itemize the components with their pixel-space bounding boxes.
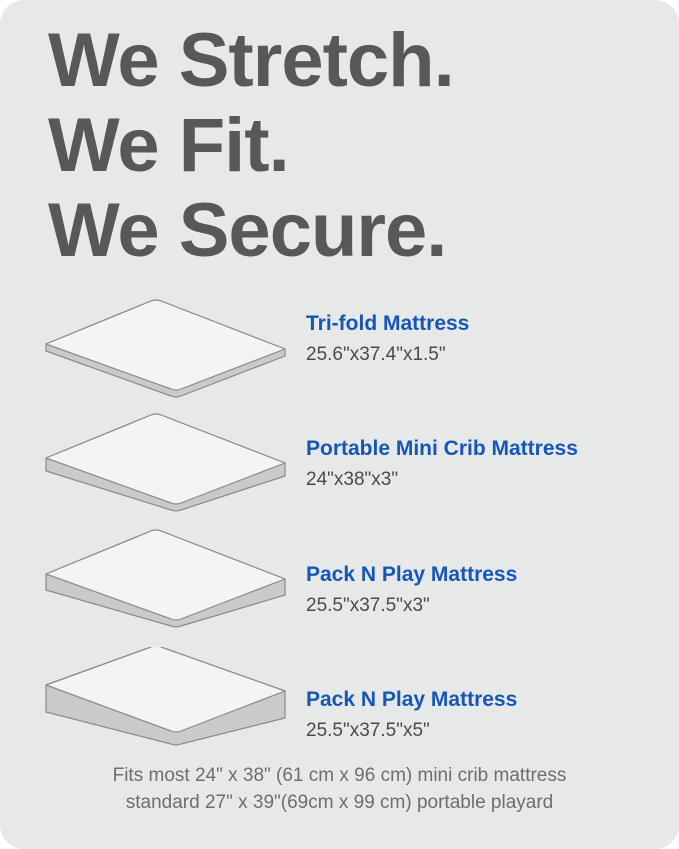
product-row: Pack N Play Mattress 25.5"x37.5"x3" bbox=[0, 529, 679, 647]
mattress-illustration-3 bbox=[38, 647, 294, 759]
footer-note: Fits most 24" x 38" (61 cm x 96 cm) mini… bbox=[0, 762, 679, 816]
headline-line-3: We Secure. bbox=[48, 188, 648, 273]
mattress-illustration-0 bbox=[38, 293, 294, 405]
product-name: Pack N Play Mattress bbox=[306, 687, 666, 713]
footer-line-2: standard 27" x 39"(69cm x 99 cm) portabl… bbox=[0, 789, 679, 816]
mattress-slab-icon bbox=[38, 529, 294, 641]
product-info: Portable Mini Crib Mattress 24"x38"x3" bbox=[306, 436, 666, 492]
product-list: Tri-fold Mattress 25.6"x37.4"x1.5" Porta… bbox=[0, 293, 679, 765]
mattress-slab-icon bbox=[38, 411, 294, 523]
product-dimensions: 25.5"x37.5"x3" bbox=[306, 594, 666, 618]
product-info: Tri-fold Mattress 25.6"x37.4"x1.5" bbox=[306, 311, 666, 367]
product-info: Pack N Play Mattress 25.5"x37.5"x3" bbox=[306, 562, 666, 618]
product-dimensions: 24"x38"x3" bbox=[306, 468, 666, 492]
mattress-slab-icon bbox=[38, 647, 294, 759]
mattress-illustration-1 bbox=[38, 411, 294, 523]
product-name: Pack N Play Mattress bbox=[306, 562, 666, 588]
product-row: Pack N Play Mattress 25.5"x37.5"x5" bbox=[0, 647, 679, 765]
product-info: Pack N Play Mattress 25.5"x37.5"x5" bbox=[306, 687, 666, 743]
headline-line-1: We Stretch. bbox=[48, 18, 648, 103]
mattress-illustration-2 bbox=[38, 529, 294, 641]
footer-line-1: Fits most 24" x 38" (61 cm x 96 cm) mini… bbox=[0, 762, 679, 789]
headline-line-2: We Fit. bbox=[48, 103, 648, 188]
product-row: Tri-fold Mattress 25.6"x37.4"x1.5" bbox=[0, 293, 679, 411]
product-dimensions: 25.6"x37.4"x1.5" bbox=[306, 343, 666, 367]
product-dimensions: 25.5"x37.5"x5" bbox=[306, 719, 666, 743]
product-row: Portable Mini Crib Mattress 24"x38"x3" bbox=[0, 411, 679, 529]
mattress-slab-icon bbox=[38, 293, 294, 405]
product-info-card: We Stretch. We Fit. We Secure. Tri-fold … bbox=[0, 0, 679, 849]
product-name: Tri-fold Mattress bbox=[306, 311, 666, 337]
headline: We Stretch. We Fit. We Secure. bbox=[48, 18, 648, 273]
product-name: Portable Mini Crib Mattress bbox=[306, 436, 666, 462]
